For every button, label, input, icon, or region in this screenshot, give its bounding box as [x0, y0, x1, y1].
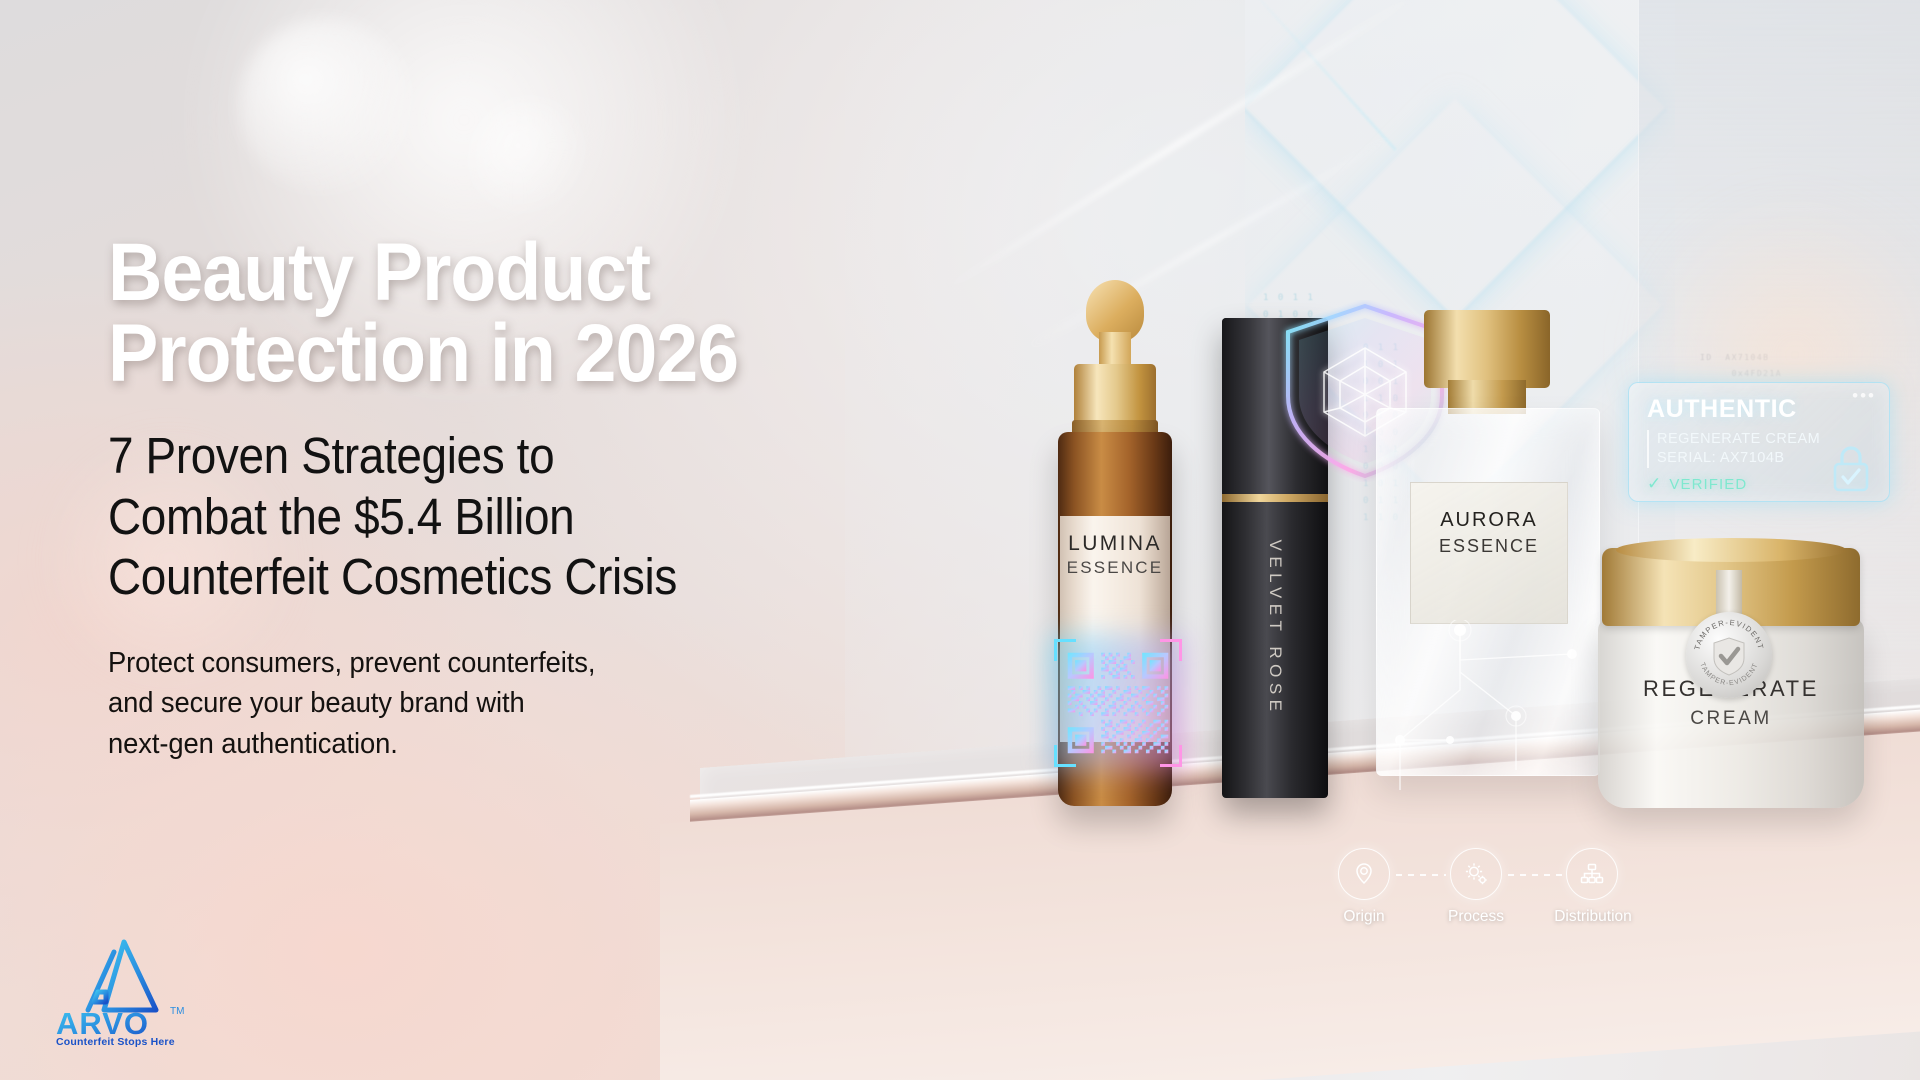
subhead-line-2: Combat the $5.4 Billion [108, 487, 900, 547]
dropper-brand-name: LUMINA [1068, 532, 1162, 556]
supply-label-process: Process [1434, 908, 1518, 926]
supply-chain-steps: Origin Process Distribution [1338, 848, 1658, 940]
holographic-qr-icon[interactable] [1060, 645, 1176, 761]
verified-label: VERIFIED [1669, 476, 1747, 493]
dropper-cap [1074, 364, 1156, 426]
perfume-product-sub: ESSENCE [1439, 536, 1539, 557]
jar-lid-top [1616, 538, 1846, 562]
supply-step-origin[interactable] [1338, 848, 1390, 900]
qr-bracket-top-right [1160, 639, 1182, 661]
subhead-line-1: 7 Proven Strategies to [108, 426, 900, 486]
subhead-line-3: Counterfeit Cosmetics Crisis [108, 547, 900, 607]
dropper-product-sub: ESSENCE [1067, 558, 1164, 578]
arvo-tagline: Counterfeit Stops Here [56, 1036, 175, 1048]
arvo-logo[interactable]: ARVO TM Counterfeit Stops Here [48, 936, 188, 1048]
tamper-evident-seal-icon: TAMPER-EVIDENT TAMPER-EVIDENT [1686, 592, 1772, 700]
org-chart-icon [1579, 861, 1605, 887]
card-menu-dots-icon[interactable]: ••• [1852, 391, 1876, 401]
body-line-3: next-gen authentication. [108, 724, 953, 764]
circuit-trace-overlay [1340, 620, 1640, 820]
supply-connector-2 [1508, 874, 1562, 876]
arvo-trademark: TM [170, 1006, 184, 1017]
qr-bracket-bottom-right [1160, 745, 1182, 767]
perfume-brand-name: AURORA [1440, 509, 1538, 532]
page-subtitle: 7 Proven Strategies to Combat the $5.4 B… [108, 426, 900, 607]
supply-step-distribution[interactable] [1566, 848, 1618, 900]
headline-line-1: Beauty Product [108, 232, 918, 313]
page-title: Beauty Product Protection in 2026 [108, 232, 918, 394]
jar-product-sub: CREAM [1598, 708, 1864, 730]
perfume-cap [1424, 310, 1550, 388]
qr-bracket-bottom-left [1054, 745, 1076, 767]
supply-label-distribution: Distribution [1534, 908, 1652, 926]
authentication-card[interactable]: ••• AUTHENTIC REGENERATE CREAM SERIAL: A… [1628, 382, 1890, 502]
perfume-label: AURORA ESSENCE [1410, 482, 1568, 624]
arvo-triangle-mark [88, 942, 156, 1010]
gears-icon [1462, 860, 1490, 888]
qr-code-graphic [1064, 649, 1172, 757]
body-line-1: Protect consumers, prevent counterfeits, [108, 643, 953, 683]
check-icon: ✓ [1647, 474, 1662, 494]
body-line-2: and secure your beauty brand with [108, 683, 953, 723]
lipstick-gold-band [1222, 494, 1328, 502]
lock-icon [1829, 443, 1873, 493]
lipstick-brand-name: VELVET ROSE [1265, 539, 1285, 716]
hero-banner: 1 0 1 1 0 1 0 0 1 1 0 1 0 0 1 1 1 0 1 0 … [0, 0, 1920, 1080]
headline-line-2: Protection in 2026 [108, 313, 918, 394]
supply-label-origin: Origin [1328, 908, 1400, 926]
text-content-block: Beauty Product Protection in 2026 7 Prov… [108, 232, 988, 764]
supply-connector-1 [1396, 874, 1446, 876]
qr-bracket-top-left [1054, 639, 1076, 661]
location-pin-icon [1351, 861, 1377, 887]
supply-step-process[interactable] [1450, 848, 1502, 900]
body-paragraph: Protect consumers, prevent counterfeits,… [108, 643, 953, 764]
